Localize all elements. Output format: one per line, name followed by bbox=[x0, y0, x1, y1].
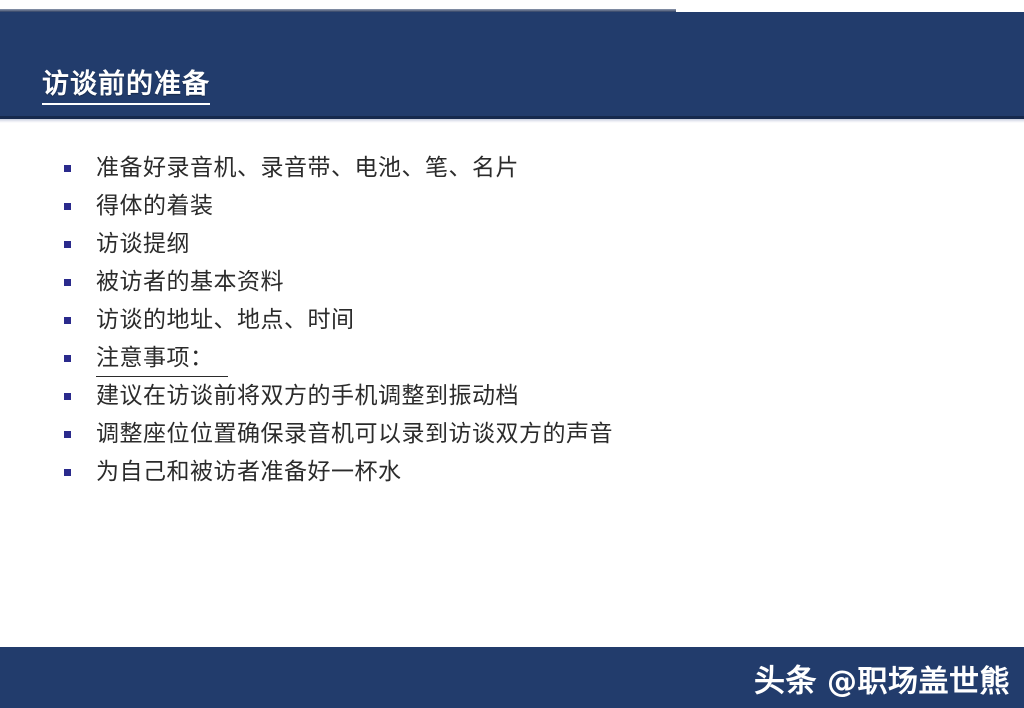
bullet-square-icon bbox=[64, 431, 71, 438]
bullet-list: 准备好录音机、录音带、电池、笔、名片得体的着装访谈提纲被访者的基本资料访谈的地址… bbox=[64, 149, 613, 491]
bullet-square-icon bbox=[64, 469, 71, 476]
watermark-brand: 头条 bbox=[754, 655, 817, 700]
page-title-text: 访谈前的准备 bbox=[42, 70, 210, 105]
list-item-label: 准备好录音机、录音带、电池、笔、名片 bbox=[96, 149, 519, 187]
list-item: 建议在访谈前将双方的手机调整到振动档 bbox=[64, 377, 613, 415]
list-item: 得体的着装 bbox=[64, 187, 613, 225]
list-item-label: 访谈的地址、地点、时间 bbox=[96, 301, 355, 339]
header-band: 访谈前的准备 bbox=[0, 12, 1024, 119]
bullet-square-icon bbox=[64, 393, 71, 400]
list-item-label: 得体的着装 bbox=[96, 187, 214, 225]
slide: 访谈前的准备 准备好录音机、录音带、电池、笔、名片得体的着装访谈提纲被访者的基本… bbox=[0, 0, 1024, 708]
list-item: 注意事项： bbox=[64, 339, 613, 377]
bullet-square-icon bbox=[64, 317, 71, 324]
watermark-handle: @职场盖世熊 bbox=[827, 656, 1010, 700]
list-item: 访谈提纲 bbox=[64, 225, 613, 263]
list-item: 访谈的地址、地点、时间 bbox=[64, 301, 613, 339]
list-item-label: 建议在访谈前将双方的手机调整到振动档 bbox=[96, 377, 519, 415]
list-item: 被访者的基本资料 bbox=[64, 263, 613, 301]
page-title: 访谈前的准备 bbox=[42, 70, 210, 105]
slide-body: 准备好录音机、录音带、电池、笔、名片得体的着装访谈提纲被访者的基本资料访谈的地址… bbox=[0, 123, 1024, 647]
bullet-square-icon bbox=[64, 241, 71, 248]
footer-band: 头条 @职场盖世熊 bbox=[0, 647, 1024, 708]
list-item-label: 调整座位位置确保录音机可以录到访谈双方的声音 bbox=[96, 415, 613, 453]
bullet-square-icon bbox=[64, 279, 71, 286]
bullet-square-icon bbox=[64, 203, 71, 210]
bullet-square-icon bbox=[64, 355, 71, 362]
watermark: 头条 @职场盖世熊 bbox=[754, 655, 1010, 700]
list-item: 准备好录音机、录音带、电池、笔、名片 bbox=[64, 149, 613, 187]
bullet-square-icon bbox=[64, 165, 71, 172]
list-item-label: 访谈提纲 bbox=[96, 225, 190, 263]
list-item-label: 被访者的基本资料 bbox=[96, 263, 284, 301]
list-item: 调整座位位置确保录音机可以录到访谈双方的声音 bbox=[64, 415, 613, 453]
list-item: 为自己和被访者准备好一杯水 bbox=[64, 453, 613, 491]
list-item-label: 注意事项： bbox=[96, 341, 228, 377]
list-item-label: 为自己和被访者准备好一杯水 bbox=[96, 453, 402, 491]
